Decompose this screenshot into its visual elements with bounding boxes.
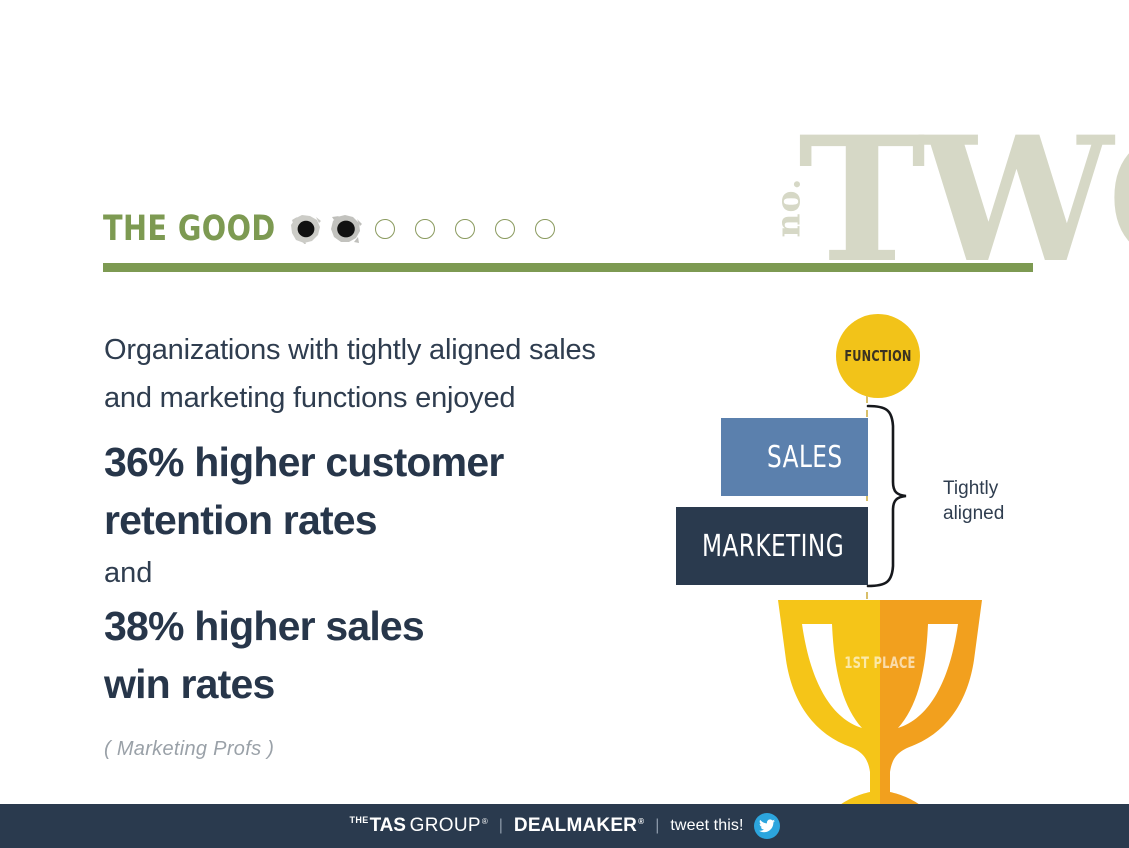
- conjunction-and: and: [104, 551, 724, 595]
- brace-caption-line-2: aligned: [943, 501, 1033, 526]
- brace-caption-line-1: Tightly: [943, 476, 1033, 501]
- function-node: FUNCTION: [836, 314, 920, 398]
- page-title: THE GOOD: [103, 212, 276, 247]
- dealmaker-logo[interactable]: DEALMAKER®: [514, 815, 644, 837]
- source-attribution: ( Marketing Profs ): [104, 737, 724, 761]
- lede-line-1: Organizations with tightly aligned sales: [104, 326, 724, 374]
- stat-two: 38% higher sales win rates: [104, 597, 724, 713]
- progress-indicator: [288, 212, 568, 246]
- circle-outline-icon: [495, 219, 515, 239]
- circle-outline-icon: [415, 219, 435, 239]
- sales-bar: SALES: [721, 418, 868, 496]
- marketing-bar: MARKETING: [676, 507, 868, 585]
- alignment-diagram: FUNCTION SALES MARKETING Tightly aligned…: [660, 300, 1080, 820]
- footer: THE TAS GROUP ® | DEALMAKER® | tweet thi…: [0, 804, 1129, 848]
- marketing-label: MARKETING: [702, 529, 844, 564]
- progress-dot-filled-1[interactable]: [288, 212, 328, 246]
- section-header: THE GOOD: [103, 205, 1033, 253]
- progress-dot-empty-7[interactable]: [528, 212, 568, 246]
- circle-outline-icon: [375, 219, 395, 239]
- bullet-hole-icon: [330, 214, 362, 244]
- circle-outline-icon: [455, 219, 475, 239]
- brace-caption: Tightly aligned: [943, 476, 1033, 526]
- logo-group: GROUP: [410, 815, 481, 837]
- registered-mark-icon: ®: [482, 817, 488, 826]
- stat-two-line-2: win rates: [104, 655, 724, 713]
- circle-outline-icon: [535, 219, 555, 239]
- header-divider: [103, 263, 1033, 272]
- statistic-copy: Organizations with tightly aligned sales…: [104, 326, 724, 761]
- trophy-label: 1ST PLACE: [842, 653, 919, 672]
- stat-one: 36% higher customer retention rates: [104, 433, 724, 549]
- stat-one-line-1: 36% higher customer: [104, 433, 724, 491]
- lede-line-2: and marketing functions enjoyed: [104, 374, 724, 422]
- footer-separator-1: |: [499, 817, 503, 835]
- progress-dot-empty-4[interactable]: [408, 212, 448, 246]
- registered-mark-icon: ®: [638, 817, 644, 826]
- progress-dot-empty-5[interactable]: [448, 212, 488, 246]
- function-label: FUNCTION: [844, 347, 911, 365]
- dealmaker-text: DEALMAKER: [514, 815, 637, 836]
- twitter-bird-icon[interactable]: [754, 813, 780, 839]
- stat-one-line-2: retention rates: [104, 491, 724, 549]
- bullet-hole-icon: [290, 214, 322, 244]
- progress-dot-filled-2[interactable]: [328, 212, 368, 246]
- trophy-icon: [770, 596, 990, 820]
- tas-group-logo[interactable]: THE TAS GROUP ®: [349, 815, 487, 837]
- tweet-this-link[interactable]: tweet this!: [670, 817, 743, 835]
- curly-brace-icon: [866, 404, 938, 588]
- logo-tas: TAS: [370, 815, 406, 837]
- logo-the: THE: [349, 815, 368, 825]
- stat-two-line-1: 38% higher sales: [104, 597, 724, 655]
- progress-dot-empty-3[interactable]: [368, 212, 408, 246]
- footer-separator-2: |: [655, 817, 659, 835]
- sales-label: SALES: [767, 440, 843, 475]
- progress-dot-empty-6[interactable]: [488, 212, 528, 246]
